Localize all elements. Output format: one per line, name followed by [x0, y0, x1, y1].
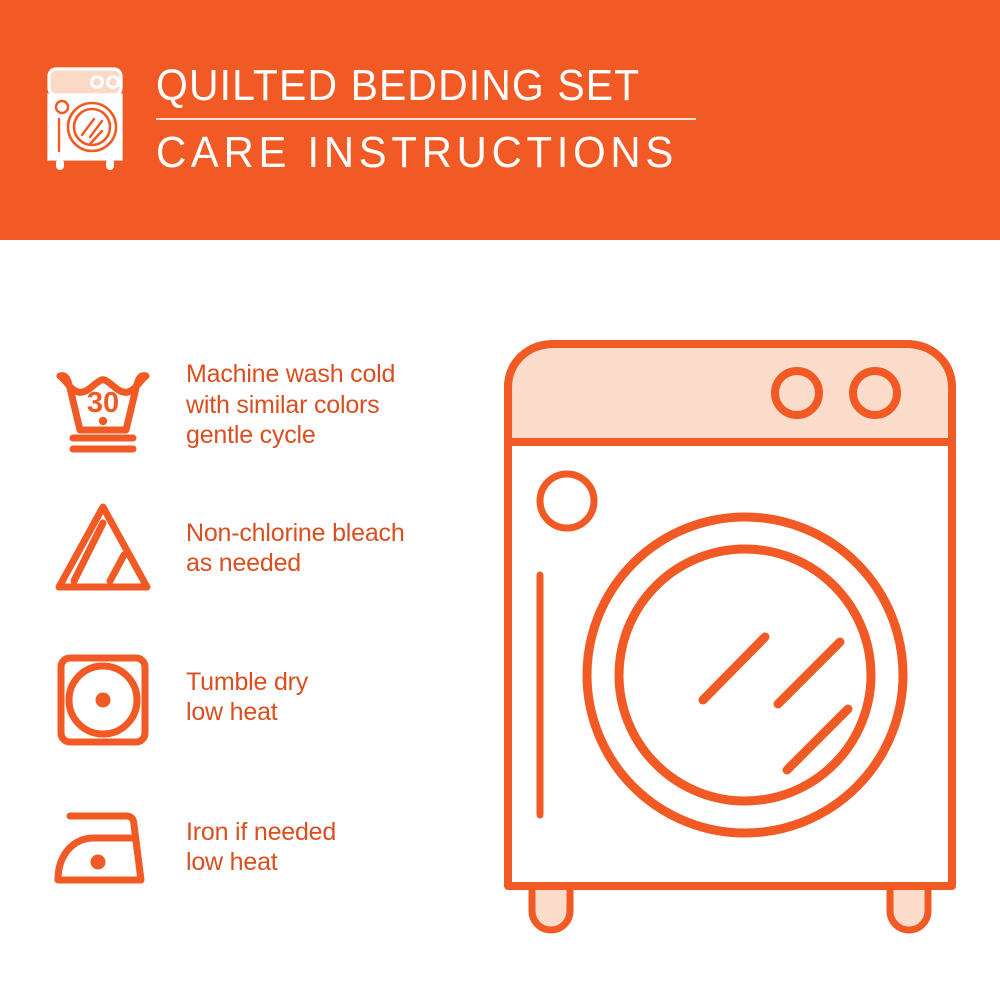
title-divider [156, 118, 696, 120]
care-row-label: Tumble dry low heat [186, 667, 308, 728]
non-chlorine-bleach-triangle-icon [48, 493, 158, 603]
page-title: QUILTED BEDDING SET [156, 62, 667, 110]
care-instructions-list: 30 Machine wash cold with similar colors… [0, 240, 480, 1000]
washing-machine-icon [42, 65, 134, 173]
page-subtitle: CARE INSTRUCTIONS [156, 128, 678, 178]
care-row-label: Non-chlorine bleach as needed [186, 518, 405, 579]
wash-temperature-label: 30 [87, 387, 119, 419]
iron-low-heat-icon [48, 792, 158, 902]
care-row: Iron if needed low heat [48, 792, 468, 902]
care-row: Tumble dry low heat [48, 642, 468, 752]
header-band: QUILTED BEDDING SET CARE INSTRUCTIONS [0, 0, 1000, 240]
care-row-label: Iron if needed low heat [186, 817, 336, 878]
header-content: QUILTED BEDDING SET CARE INSTRUCTIONS [42, 62, 705, 178]
care-row-label: Machine wash cold with similar colors ge… [186, 359, 395, 451]
front-load-washing-machine-illustration [490, 330, 970, 940]
header-titles: QUILTED BEDDING SET CARE INSTRUCTIONS [156, 62, 705, 178]
wash-tub-30-gentle-icon: 30 [48, 350, 158, 460]
tumble-dry-low-heat-icon [48, 642, 158, 752]
care-row: 30 Machine wash cold with similar colors… [48, 350, 468, 460]
care-row: Non-chlorine bleach as needed [48, 493, 468, 603]
